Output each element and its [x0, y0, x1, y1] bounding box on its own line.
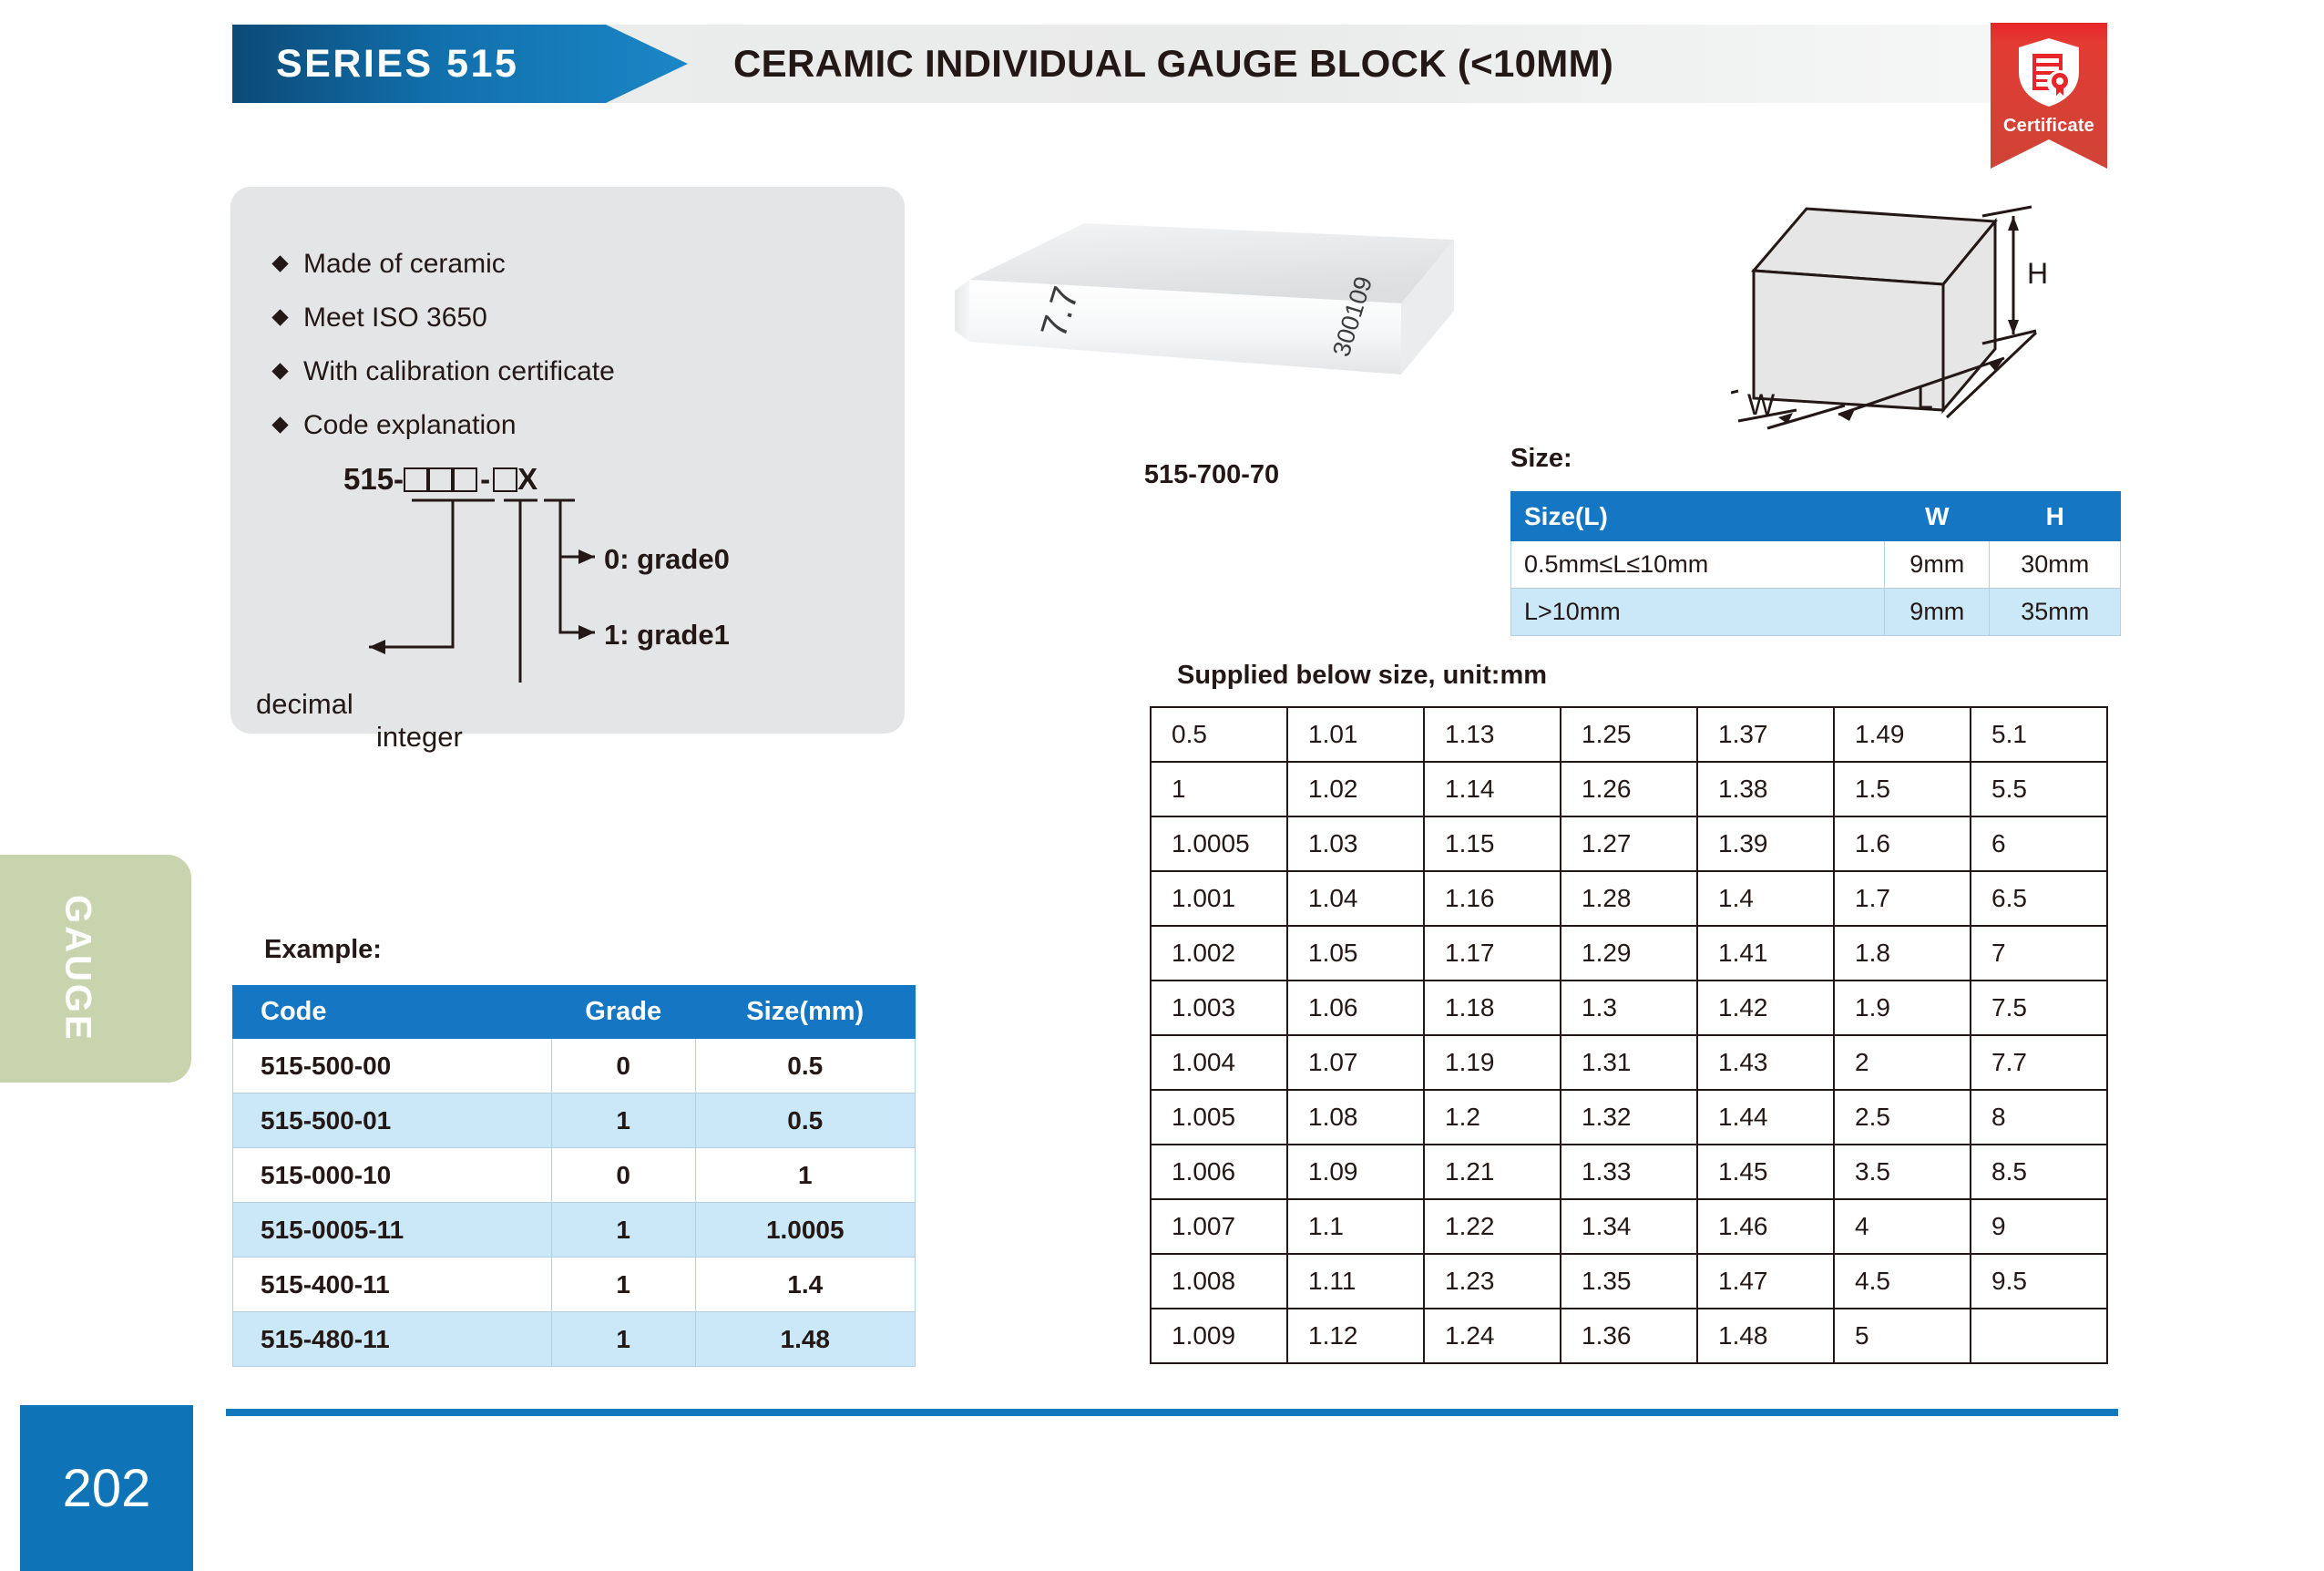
example-cell: 1 — [551, 1258, 695, 1312]
grade0-label: 0: grade0 — [604, 543, 730, 576]
supplied-size-cell: 1.0005 — [1151, 816, 1287, 871]
supplied-size-cell: 1.001 — [1151, 871, 1287, 926]
supplied-size-cell: 1.08 — [1287, 1090, 1424, 1145]
size-cell: 30mm — [1990, 541, 2121, 589]
supplied-size-cell: 1.3 — [1561, 981, 1697, 1035]
supplied-size-cell: 1.2 — [1424, 1090, 1561, 1145]
table-row: 1.0011.041.161.281.41.76.5 — [1151, 871, 2107, 926]
supplied-size-cell: 9 — [1971, 1199, 2107, 1254]
bullet-label: With calibration certificate — [303, 356, 615, 387]
supplied-size-cell: 1.23 — [1424, 1254, 1561, 1309]
diamond-bullet-icon — [271, 309, 288, 325]
size-section-heading: Size: — [1510, 444, 1572, 474]
supplied-size-cell: 1.19 — [1424, 1035, 1561, 1090]
table-row: 1.0051.081.21.321.442.58 — [1151, 1090, 2107, 1145]
supplied-size-cell: 1.01 — [1287, 707, 1424, 762]
size-cell: 9mm — [1885, 589, 1990, 636]
example-cell: 0 — [551, 1148, 695, 1203]
supplied-size-cell: 1.002 — [1151, 926, 1287, 981]
supplied-size-cell: 1.7 — [1834, 871, 1971, 926]
supplied-size-cell: 5.5 — [1971, 762, 2107, 816]
series-banner: SERIES 515 — [232, 25, 688, 103]
example-col-header-grade: Grade — [551, 986, 695, 1039]
supplied-size-cell: 1.29 — [1561, 926, 1697, 981]
diamond-bullet-icon — [271, 255, 288, 272]
supplied-size-cell: 1.45 — [1697, 1145, 1834, 1199]
supplied-size-cell: 1.6 — [1834, 816, 1971, 871]
supplied-size-cell: 1.37 — [1697, 707, 1834, 762]
supplied-size-cell: 1.003 — [1151, 981, 1287, 1035]
feature-bullet-list: Made of ceramic Meet ISO 3650 With calib… — [274, 237, 615, 452]
supplied-size-cell: 1.11 — [1287, 1254, 1424, 1309]
svg-text:L: L — [1917, 382, 1933, 415]
supplied-size-cell: 1.47 — [1697, 1254, 1834, 1309]
svg-text:W: W — [1747, 388, 1776, 421]
example-cell: 1 — [695, 1148, 915, 1203]
supplied-size-cell: 1.09 — [1287, 1145, 1424, 1199]
supplied-size-cell: 1.24 — [1424, 1309, 1561, 1363]
page-title: CERAMIC INDIVIDUAL GAUGE BLOCK (<10MM) — [733, 25, 1613, 103]
supplied-size-cell: 1.16 — [1424, 871, 1561, 926]
certificate-badge: Certificate — [1991, 23, 2107, 169]
table-row: 515-000-1001 — [233, 1148, 916, 1203]
supplied-size-cell: 1.35 — [1561, 1254, 1697, 1309]
supplied-size-cell: 9.5 — [1971, 1254, 2107, 1309]
list-item: Code explanation — [274, 398, 615, 452]
example-cell: 1 — [551, 1312, 695, 1367]
size-col-header-w: W — [1885, 492, 1990, 541]
table-row: 0.5mm≤L≤10mm 9mm 30mm — [1511, 541, 2121, 589]
supplied-size-cell: 6.5 — [1971, 871, 2107, 926]
size-col-header-h: H — [1990, 492, 2121, 541]
example-cell: 1 — [551, 1203, 695, 1258]
supplied-size-cell: 1.12 — [1287, 1309, 1424, 1363]
supplied-size-cell: 1.03 — [1287, 816, 1424, 871]
supplied-size-cell: 1.22 — [1424, 1199, 1561, 1254]
supplied-size-cell: 2.5 — [1834, 1090, 1971, 1145]
bullet-label: Code explanation — [303, 410, 517, 441]
supplied-size-cell: 1.07 — [1287, 1035, 1424, 1090]
supplied-size-cell: 1.33 — [1561, 1145, 1697, 1199]
supplied-size-cell: 7.7 — [1971, 1035, 2107, 1090]
certificate-label: Certificate — [2003, 116, 2094, 137]
supplied-size-cell: 1.05 — [1287, 926, 1424, 981]
supplied-size-cell: 1.43 — [1697, 1035, 1834, 1090]
sidebar-tab-gauge[interactable]: GAUGE — [0, 855, 191, 1083]
supplied-size-cell: 1.8 — [1834, 926, 1971, 981]
supplied-size-cell: 3.5 — [1834, 1145, 1971, 1199]
example-col-header-code: Code — [233, 986, 552, 1039]
supplied-size-cell: 1.005 — [1151, 1090, 1287, 1145]
table-row: 1.0031.061.181.31.421.97.5 — [1151, 981, 2107, 1035]
supplied-size-cell: 1.13 — [1424, 707, 1561, 762]
supplied-size-cell: 1.4 — [1697, 871, 1834, 926]
supplied-size-cell: 1.38 — [1697, 762, 1834, 816]
table-row: 515-400-1111.4 — [233, 1258, 916, 1312]
bullet-label: Meet ISO 3650 — [303, 303, 487, 334]
supplied-size-cell: 1.9 — [1834, 981, 1971, 1035]
decimal-label: decimal — [256, 688, 353, 721]
example-cell: 0.5 — [695, 1039, 915, 1094]
page-number-badge: 202 — [20, 1405, 193, 1571]
table-row: 0.51.011.131.251.371.495.1 — [1151, 707, 2107, 762]
supplied-size-cell: 1.008 — [1151, 1254, 1287, 1309]
table-row: L>10mm 9mm 35mm — [1511, 589, 2121, 636]
supplied-size-cell: 1.28 — [1561, 871, 1697, 926]
supplied-size-cell: 1.46 — [1697, 1199, 1834, 1254]
series-label: SERIES 515 — [232, 42, 518, 87]
supplied-size-cell — [1971, 1309, 2107, 1363]
supplied-size-cell: 4 — [1834, 1199, 1971, 1254]
supplied-size-cell: 1.34 — [1561, 1199, 1697, 1254]
supplied-size-cell: 1.009 — [1151, 1309, 1287, 1363]
supplied-size-cell: 1 — [1151, 762, 1287, 816]
supplied-size-cell: 1.5 — [1834, 762, 1971, 816]
table-row: 1.0071.11.221.341.4649 — [1151, 1199, 2107, 1254]
supplied-size-cell: 1.27 — [1561, 816, 1697, 871]
supplied-size-cell: 1.14 — [1424, 762, 1561, 816]
supplied-size-cell: 0.5 — [1151, 707, 1287, 762]
table-row: 515-500-0000.5 — [233, 1039, 916, 1094]
table-row: 515-500-0110.5 — [233, 1094, 916, 1148]
supplied-size-cell: 1.006 — [1151, 1145, 1287, 1199]
size-cell: 35mm — [1990, 589, 2121, 636]
table-row: 1.0041.071.191.311.4327.7 — [1151, 1035, 2107, 1090]
size-cell: 0.5mm≤L≤10mm — [1511, 541, 1885, 589]
table-row: 1.0091.121.241.361.485 — [1151, 1309, 2107, 1363]
table-row: 1.0081.111.231.351.474.59.5 — [1151, 1254, 2107, 1309]
size-cell: L>10mm — [1511, 589, 1885, 636]
table-row: 1.0061.091.211.331.453.58.5 — [1151, 1145, 2107, 1199]
supplied-size-cell: 6 — [1971, 816, 2107, 871]
example-col-header-size: Size(mm) — [695, 986, 915, 1039]
svg-text:H: H — [2027, 257, 2048, 290]
example-cell: 1 — [551, 1094, 695, 1148]
list-item: Made of ceramic — [274, 237, 615, 291]
bullet-label: Made of ceramic — [303, 249, 506, 280]
example-cell: 515-400-11 — [233, 1258, 552, 1312]
table-row: 11.021.141.261.381.55.5 — [1151, 762, 2107, 816]
supplied-size-cell: 7.5 — [1971, 981, 2107, 1035]
example-cell: 515-480-11 — [233, 1312, 552, 1367]
code-leader-lines — [230, 457, 905, 721]
example-cell: 515-500-01 — [233, 1094, 552, 1148]
supplied-size-cell: 1.48 — [1697, 1309, 1834, 1363]
example-cell: 0.5 — [695, 1094, 915, 1148]
example-section-heading: Example: — [264, 935, 382, 965]
supplied-size-cell: 4.5 — [1834, 1254, 1971, 1309]
supplied-section-heading: Supplied below size, unit:mm — [1177, 661, 1547, 691]
supplied-size-cell: 1.25 — [1561, 707, 1697, 762]
diamond-bullet-icon — [271, 363, 288, 379]
table-header-row: Code Grade Size(mm) — [233, 986, 916, 1039]
supplied-size-cell: 8.5 — [1971, 1145, 2107, 1199]
table-row: 1.00051.031.151.271.391.66 — [1151, 816, 2107, 871]
supplied-size-cell: 7 — [1971, 926, 2107, 981]
supplied-size-cell: 1.31 — [1561, 1035, 1697, 1090]
example-cell: 515-500-00 — [233, 1039, 552, 1094]
supplied-size-cell: 1.15 — [1424, 816, 1561, 871]
supplied-size-cell: 1.21 — [1424, 1145, 1561, 1199]
supplied-size-cell: 2 — [1834, 1035, 1971, 1090]
supplied-size-cell: 1.17 — [1424, 926, 1561, 981]
product-caption: 515-700-70 — [947, 460, 1476, 490]
size-table: Size(L) W H 0.5mm≤L≤10mm 9mm 30mm L>10mm… — [1510, 491, 2121, 636]
supplied-size-cell: 1.32 — [1561, 1090, 1697, 1145]
supplied-size-cell: 1.02 — [1287, 762, 1424, 816]
footer-rule — [226, 1409, 2118, 1416]
supplied-size-table: 0.51.011.131.251.371.495.111.021.141.261… — [1150, 706, 2108, 1364]
diamond-bullet-icon — [271, 416, 288, 433]
supplied-size-cell: 5 — [1834, 1309, 1971, 1363]
supplied-size-cell: 1.26 — [1561, 762, 1697, 816]
example-cell: 0 — [551, 1039, 695, 1094]
size-col-header-l: Size(L) — [1511, 492, 1885, 541]
supplied-size-cell: 1.44 — [1697, 1090, 1834, 1145]
supplied-size-cell: 1.06 — [1287, 981, 1424, 1035]
list-item: Meet ISO 3650 — [274, 291, 615, 344]
sidebar-tab-label: GAUGE — [57, 895, 98, 1042]
integer-label: integer — [376, 721, 463, 754]
supplied-size-cell: 1.36 — [1561, 1309, 1697, 1363]
size-cell: 9mm — [1885, 541, 1990, 589]
supplied-size-cell: 1.1 — [1287, 1199, 1424, 1254]
supplied-size-cell: 1.42 — [1697, 981, 1834, 1035]
supplied-size-cell: 1.49 — [1834, 707, 1971, 762]
feature-panel: Made of ceramic Meet ISO 3650 With calib… — [230, 187, 905, 734]
example-cell: 515-0005-11 — [233, 1203, 552, 1258]
table-row: 515-480-1111.48 — [233, 1312, 916, 1367]
supplied-size-cell: 1.41 — [1697, 926, 1834, 981]
grade1-label: 1: grade1 — [604, 619, 730, 652]
product-photo: 7.7 300109 — [947, 196, 1476, 478]
table-header-row: Size(L) W H — [1511, 492, 2121, 541]
supplied-size-cell: 1.39 — [1697, 816, 1834, 871]
list-item: With calibration certificate — [274, 344, 615, 398]
code-explanation-diagram: 515- - X — [230, 457, 905, 721]
table-row: 1.0021.051.171.291.411.87 — [1151, 926, 2107, 981]
supplied-size-cell: 1.18 — [1424, 981, 1561, 1035]
example-table: Code Grade Size(mm) 515-500-0000.5515-50… — [232, 985, 916, 1367]
supplied-size-cell: 5.1 — [1971, 707, 2107, 762]
example-cell: 1.4 — [695, 1258, 915, 1312]
example-cell: 1.48 — [695, 1312, 915, 1367]
certificate-shield-icon — [2014, 36, 2083, 113]
example-cell: 1.0005 — [695, 1203, 915, 1258]
supplied-size-cell: 1.007 — [1151, 1199, 1287, 1254]
supplied-size-cell: 1.004 — [1151, 1035, 1287, 1090]
supplied-size-cell: 1.04 — [1287, 871, 1424, 926]
supplied-size-cell: 8 — [1971, 1090, 2107, 1145]
example-cell: 515-000-10 — [233, 1148, 552, 1203]
page-number: 202 — [63, 1458, 151, 1519]
table-row: 515-0005-1111.0005 — [233, 1203, 916, 1258]
dimension-drawing: H L W — [1731, 196, 2114, 460]
catalog-page: SERIES 515 CERAMIC INDIVIDUAL GAUGE BLOC… — [0, 0, 2324, 1571]
